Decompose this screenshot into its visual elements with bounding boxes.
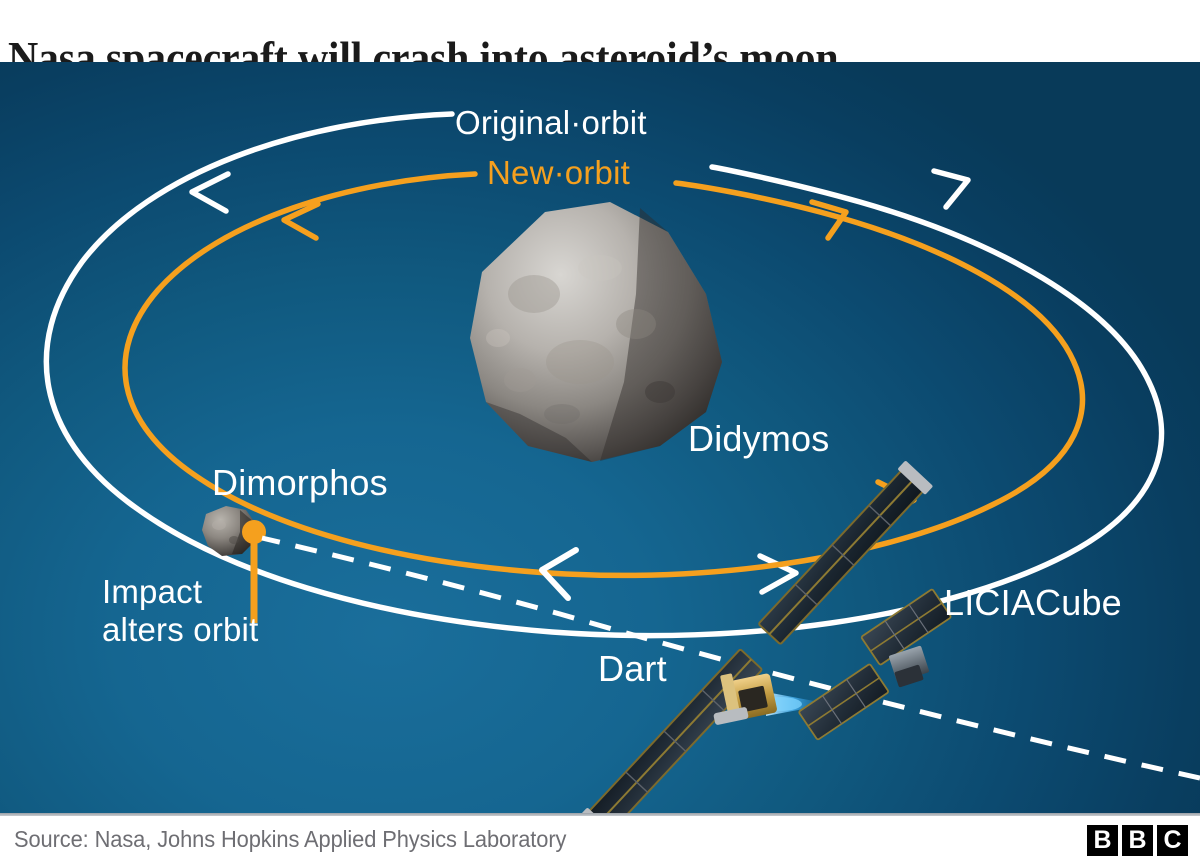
label-original-orbit: Original·orbit	[455, 104, 647, 142]
label-impact-line2: alters orbit	[102, 611, 332, 649]
bbc-logo-block-2: B	[1122, 825, 1153, 856]
didymos-asteroid	[470, 202, 722, 462]
label-impact-line1: Impact	[102, 573, 202, 610]
bbc-logo: B B C	[1087, 825, 1188, 856]
liciacube-spacecraft	[799, 589, 952, 740]
bbc-logo-block-3: C	[1157, 825, 1188, 856]
source-text: Source: Nasa, Johns Hopkins Applied Phys…	[14, 826, 566, 853]
label-didymos: Didymos	[688, 418, 829, 460]
footer: Source: Nasa, Johns Hopkins Applied Phys…	[0, 816, 1200, 864]
bbc-logo-block-1: B	[1087, 825, 1118, 856]
label-impact-alters-orbit: Impact alters orbit	[102, 573, 332, 649]
illustration-panel: Original·orbit New·orbit Didymos Dimorph…	[0, 62, 1200, 813]
label-new-orbit: New·orbit	[487, 154, 630, 192]
label-dimorphos: Dimorphos	[212, 462, 388, 504]
orbit-original-arrow-left	[192, 174, 228, 211]
label-dart: Dart	[598, 648, 667, 690]
label-liciacube: LICIACube	[944, 582, 1122, 624]
orbit-original-arrow-right	[934, 171, 968, 207]
infographic-root: Nasa spacecraft will crash into asteroid…	[0, 0, 1200, 864]
orbit-new-arrow-right	[812, 202, 846, 238]
